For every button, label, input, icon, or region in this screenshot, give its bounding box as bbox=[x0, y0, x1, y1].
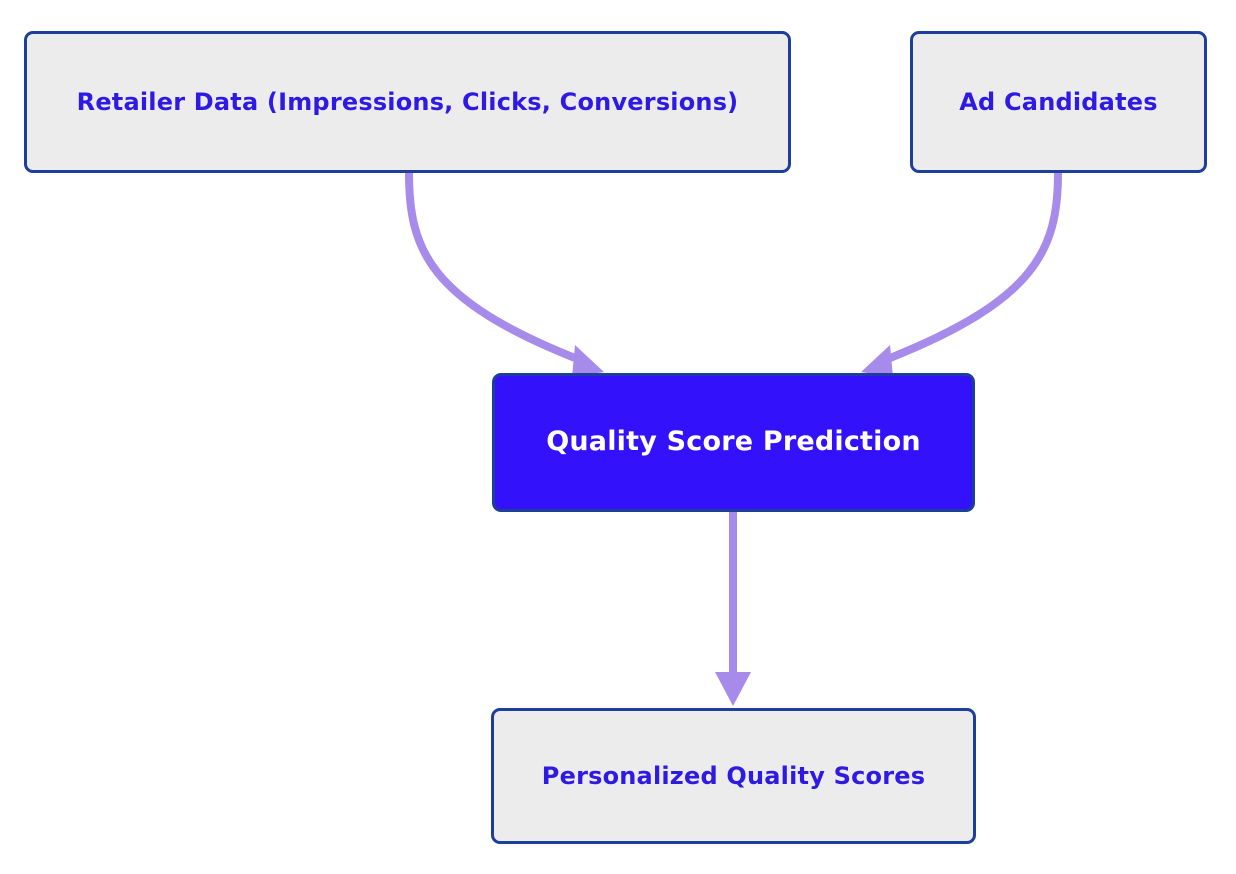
node-personalized-quality-scores[interactable]: Personalized Quality Scores bbox=[491, 708, 976, 844]
edge-retailer-to-prediction-path bbox=[409, 173, 575, 358]
node-retailer-data[interactable]: Retailer Data (Impressions, Clicks, Conv… bbox=[24, 31, 791, 173]
edge-prediction-to-scores-arrowhead bbox=[715, 672, 751, 706]
flowchart-canvas: Retailer Data (Impressions, Clicks, Conv… bbox=[0, 0, 1236, 874]
node-quality-score-prediction-label: Quality Score Prediction bbox=[546, 426, 921, 458]
node-personalized-quality-scores-label: Personalized Quality Scores bbox=[542, 762, 925, 791]
edge-adcandidates-to-prediction bbox=[861, 173, 1058, 377]
node-retailer-data-label: Retailer Data (Impressions, Clicks, Conv… bbox=[77, 88, 739, 117]
node-quality-score-prediction[interactable]: Quality Score Prediction bbox=[492, 373, 975, 512]
node-ad-candidates[interactable]: Ad Candidates bbox=[910, 31, 1207, 173]
edge-prediction-to-scores bbox=[715, 512, 751, 706]
node-ad-candidates-label: Ad Candidates bbox=[959, 88, 1157, 117]
edge-adcandidates-to-prediction-path bbox=[890, 173, 1058, 358]
edge-retailer-to-prediction bbox=[409, 173, 604, 377]
